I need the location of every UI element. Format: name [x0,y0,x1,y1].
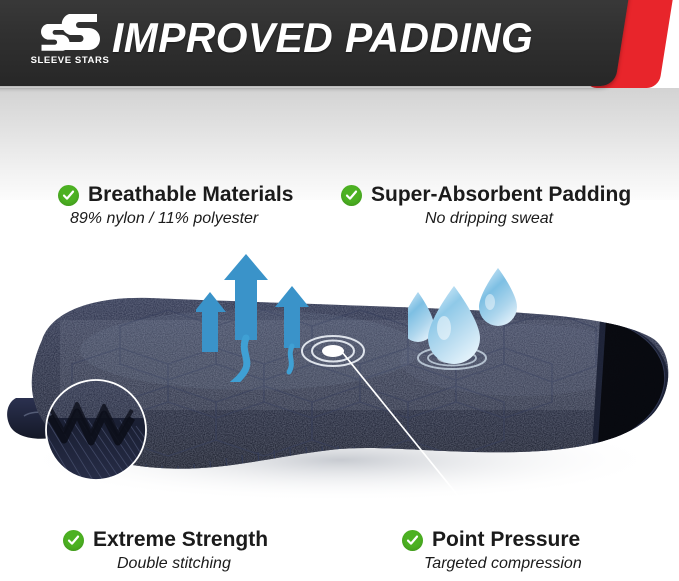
page-title: IMPROVED PADDING [112,14,533,62]
feature-subtitle: Targeted compression [424,555,582,573]
feature-subtitle: 89% nylon / 11% polyester [70,210,293,228]
feature-breathable-materials: Breathable Materials 89% nylon / 11% pol… [58,183,293,228]
infographic-canvas: SLEEVE STARS IMPROVED PADDING [0,0,679,581]
sleeve-stars-mark-icon [39,12,101,54]
check-circle-icon [341,185,362,206]
feature-subtitle: No dripping sweat [425,210,631,228]
feature-super-absorbent-padding: Super-Absorbent Padding No dripping swea… [341,183,631,228]
feature-subtitle: Double stitching [117,555,268,573]
header-banner: SLEEVE STARS IMPROVED PADDING [0,0,679,90]
brand-name: SLEEVE STARS [31,55,110,66]
feature-title: Breathable Materials [88,183,293,207]
leader-line [330,345,490,530]
feature-point-pressure: Point Pressure Targeted compression [402,528,582,573]
stitch-magnifier [44,378,148,482]
feature-title: Super-Absorbent Padding [371,183,631,207]
feature-extreme-strength: Extreme Strength Double stitching [63,528,268,573]
feature-title: Extreme Strength [93,528,268,552]
check-circle-icon [63,530,84,551]
check-circle-icon [58,185,79,206]
feature-title: Point Pressure [432,528,580,552]
brand-logo: SLEEVE STARS [32,12,108,74]
check-circle-icon [402,530,423,551]
